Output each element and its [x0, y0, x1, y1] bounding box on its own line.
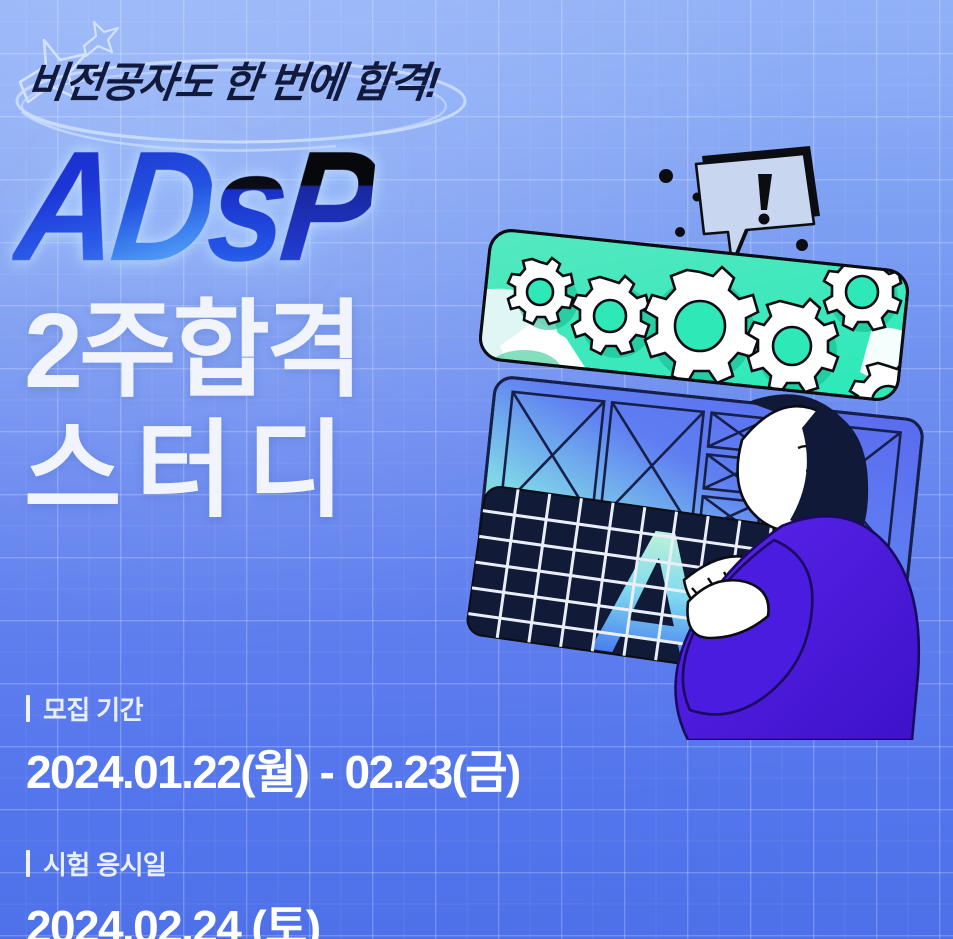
info-label: 모집 기간: [43, 690, 143, 727]
info-block-recruitment: 모집 기간 2024.01.22(월) - 02.23(금): [26, 690, 520, 802]
info-value: 2024.02.24 (토): [26, 891, 320, 939]
info-block-exam-date: 시험 응시일 2024.02.24 (토): [26, 845, 320, 939]
illustration: [452, 140, 953, 740]
headline-line-2: 스터디: [24, 420, 360, 524]
info-value: 2024.01.22(월) - 02.23(금): [26, 736, 520, 802]
info-label: 시험 응시일: [43, 845, 166, 882]
accent-bar-icon: [26, 850, 30, 877]
accent-bar-icon: [26, 695, 30, 722]
info-label-row: 시험 응시일: [26, 845, 320, 882]
headline: 2주합격 스터디: [24, 300, 360, 524]
logo-letter-a: A: [9, 118, 124, 294]
info-label-row: 모집 기간: [26, 690, 520, 727]
promo-poster: 비전공자도 한 번에 합격! ADsP 2주합격 스터디 모집 기간 2024.…: [0, 0, 953, 939]
adsp-logo: ADsP: [10, 128, 380, 285]
logo-letter-p: P: [274, 118, 381, 294]
tagline-text: 비전공자도 한 번에 합격!: [25, 62, 510, 104]
logo-letter-d: D: [105, 118, 220, 294]
headline-line-1: 2주합격: [24, 300, 360, 404]
